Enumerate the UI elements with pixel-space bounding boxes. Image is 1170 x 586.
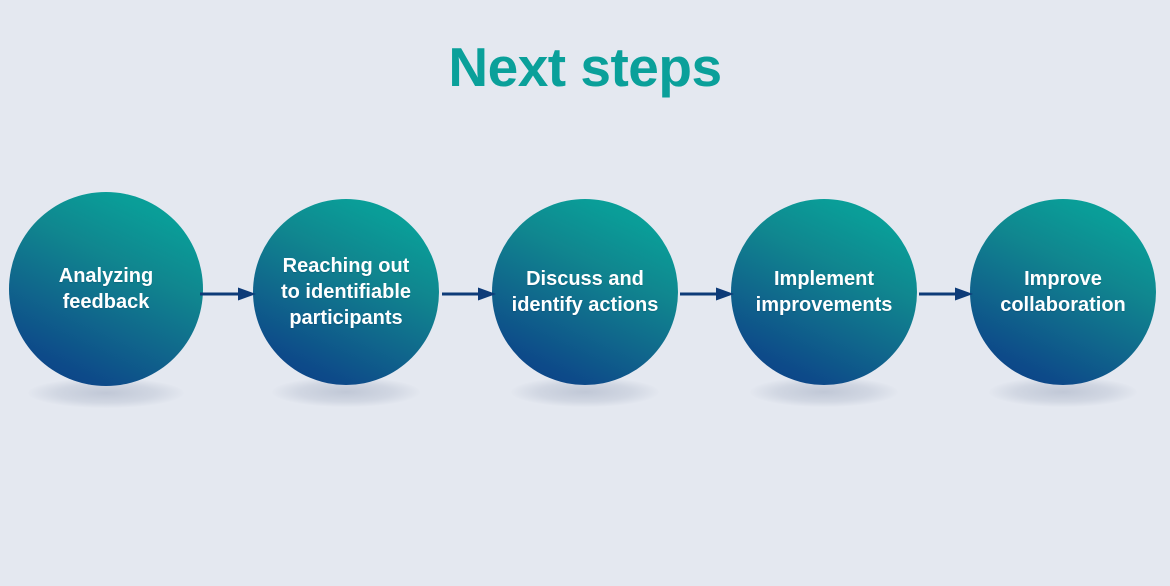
flow-circle-3[interactable]: Discuss and identify actions: [492, 199, 678, 385]
process-flow-diagram: Analyzing feedbackReaching out to identi…: [0, 0, 1170, 586]
flow-node-1[interactable]: Analyzing feedback: [9, 192, 203, 418]
flow-circle-2[interactable]: Reaching out to identifiable participant…: [253, 199, 439, 385]
flow-arrow-1: [200, 286, 256, 302]
flow-node-5[interactable]: Improve collaboration: [970, 199, 1156, 417]
flow-node-label: Discuss and identify actions: [510, 266, 661, 318]
flow-node-label: Improve collaboration: [998, 266, 1128, 318]
flow-node-label: Reaching out to identifiable participant…: [279, 253, 413, 331]
flow-node-label: Implement improvements: [754, 266, 895, 318]
flow-arrow-4: [919, 286, 973, 302]
slide-canvas: Next steps Analyzing feedbackReaching ou…: [0, 0, 1170, 586]
flow-circle-5[interactable]: Improve collaboration: [970, 199, 1156, 385]
flow-circle-1[interactable]: Analyzing feedback: [9, 192, 203, 386]
flow-arrow-3: [680, 286, 734, 302]
flow-node-3[interactable]: Discuss and identify actions: [492, 199, 678, 417]
flow-node-2[interactable]: Reaching out to identifiable participant…: [253, 199, 439, 417]
flow-circle-4[interactable]: Implement improvements: [731, 199, 917, 385]
flow-node-4[interactable]: Implement improvements: [731, 199, 917, 417]
flow-arrow-2: [442, 286, 496, 302]
flow-node-label: Analyzing feedback: [57, 263, 155, 315]
